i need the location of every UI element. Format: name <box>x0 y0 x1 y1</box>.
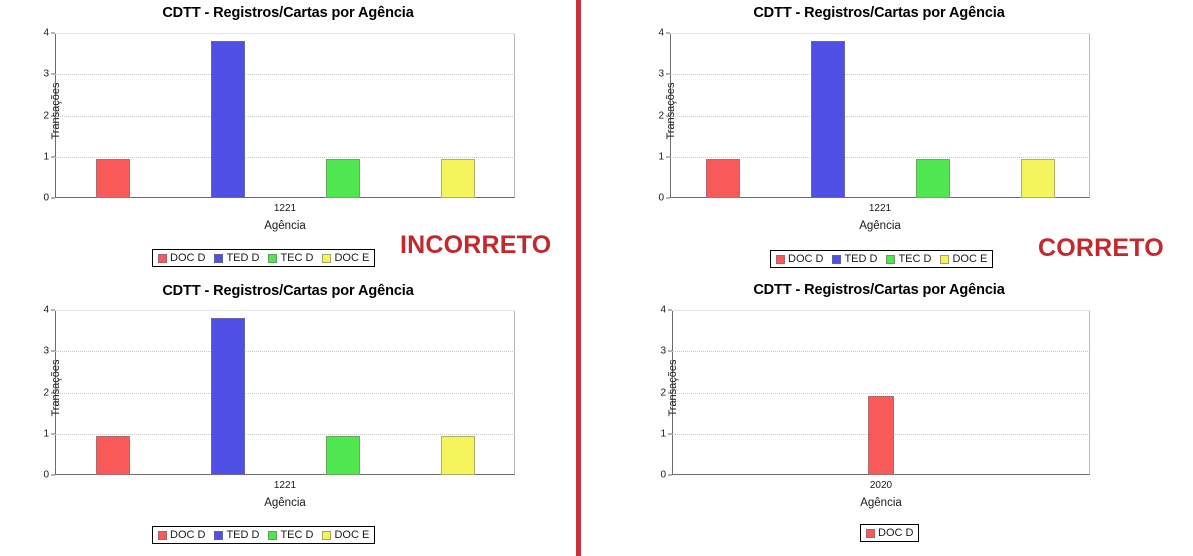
bar-slot <box>670 33 775 198</box>
legend-top-left: DOC D TED D TEC D DOC E <box>152 249 375 267</box>
legend-swatch-icon <box>268 254 277 263</box>
verdict-label-correto: CORRETO <box>1038 234 1164 263</box>
legend-swatch-icon <box>322 254 331 263</box>
ytick-label-4: 4 <box>43 28 49 39</box>
ytick-label-1: 1 <box>43 151 49 162</box>
chart-title-top-right: CDTT - Registros/Cartas por Agência <box>583 5 1175 21</box>
legend-top-right: DOC D TED D TEC D DOC E <box>770 250 993 268</box>
ytick-label-4: 4 <box>43 305 49 316</box>
chart-title-bottom-right: CDTT - Registros/Cartas por Agência <box>583 282 1175 298</box>
legend-bottom-right: DOC D <box>860 524 919 542</box>
legend-item-ted-d[interactable]: TED D <box>832 253 877 265</box>
legend-swatch-icon <box>214 531 223 540</box>
ytick-label-3: 3 <box>658 69 664 80</box>
x-axis-label: Agência <box>55 497 515 509</box>
ytick-label-4: 4 <box>658 28 664 39</box>
legend-label: DOC E <box>334 252 369 264</box>
xtick-label-2020: 2020 <box>870 480 892 491</box>
legend-swatch-icon <box>158 531 167 540</box>
ytick-label-2: 2 <box>43 110 49 121</box>
plot-area-bottom-right: 0 1 2 3 4 Transações 2020 Agência <box>672 310 1090 475</box>
legend-swatch-icon <box>776 255 785 264</box>
legend-item-doc-e[interactable]: DOC E <box>940 253 987 265</box>
screenshot-canvas: CDTT - Registros/Cartas por Agência 0 1 … <box>0 0 1193 556</box>
bar-doc-d[interactable] <box>868 396 894 475</box>
bar-slot <box>285 310 400 475</box>
legend-label: TED D <box>226 252 259 264</box>
legend-label: DOC D <box>170 252 205 264</box>
bar-doc-e[interactable] <box>441 436 475 475</box>
bar-ted-d[interactable] <box>211 318 245 475</box>
bar-doc-d[interactable] <box>96 159 130 198</box>
legend-item-tec-d[interactable]: TEC D <box>268 252 313 264</box>
legend-label: TED D <box>844 253 877 265</box>
bar-group-bottom-right <box>672 310 1090 475</box>
bar-ted-d[interactable] <box>811 41 845 198</box>
legend-swatch-icon <box>214 254 223 263</box>
vertical-divider <box>576 0 581 556</box>
bar-tec-d[interactable] <box>326 436 360 475</box>
legend-swatch-icon <box>866 529 875 538</box>
ytick-label-0: 0 <box>660 470 666 481</box>
ytick-label-2: 2 <box>660 387 666 398</box>
xtick-label-1221: 1221 <box>274 480 296 491</box>
legend-item-tec-d[interactable]: TEC D <box>268 529 313 541</box>
legend-label: DOC D <box>170 529 205 541</box>
ytick-label-3: 3 <box>660 346 666 357</box>
legend-label: DOC D <box>788 253 823 265</box>
ytick-label-1: 1 <box>43 428 49 439</box>
plot-area-top-right: 0 1 2 3 4 Transações 1221 Agência <box>670 33 1090 198</box>
legend-swatch-icon <box>832 255 841 264</box>
bar-slot <box>811 310 950 475</box>
legend-item-doc-d[interactable]: DOC D <box>866 527 913 539</box>
bar-group-top-left <box>55 33 515 198</box>
legend-swatch-icon <box>322 531 331 540</box>
ytick-label-0: 0 <box>43 470 49 481</box>
bar-slot <box>170 310 285 475</box>
bar-doc-d[interactable] <box>706 159 740 198</box>
ytick-label-2: 2 <box>658 110 664 121</box>
ytick-label-3: 3 <box>43 69 49 80</box>
legend-item-doc-d[interactable]: DOC D <box>158 529 205 541</box>
bar-slot <box>951 310 1090 475</box>
legend-label: TED D <box>226 529 259 541</box>
chart-title-top-left: CDTT - Registros/Cartas por Agência <box>0 5 576 21</box>
bar-group-top-right <box>670 33 1090 198</box>
legend-bottom-left: DOC D TED D TEC D DOC E <box>152 526 375 544</box>
bar-slot <box>285 33 400 198</box>
legend-item-doc-e[interactable]: DOC E <box>322 252 369 264</box>
plot-area-bottom-left: 0 1 2 3 4 Transações 1221 Agência <box>55 310 515 475</box>
ytick-label-0: 0 <box>658 193 664 204</box>
verdict-label-incorreto: INCORRETO <box>400 231 551 260</box>
bar-slot <box>672 310 811 475</box>
legend-item-doc-d[interactable]: DOC D <box>776 253 823 265</box>
bar-ted-d[interactable] <box>211 41 245 198</box>
bar-slot <box>55 33 170 198</box>
bar-slot <box>880 33 985 198</box>
bar-tec-d[interactable] <box>326 159 360 198</box>
xtick-label-1221: 1221 <box>869 203 891 214</box>
legend-swatch-icon <box>940 255 949 264</box>
legend-swatch-icon <box>886 255 895 264</box>
ytick-label-4: 4 <box>660 305 666 316</box>
legend-label: TEC D <box>898 253 931 265</box>
ytick-label-3: 3 <box>43 346 49 357</box>
chart-title-bottom-left: CDTT - Registros/Cartas por Agência <box>0 283 576 299</box>
ytick-label-1: 1 <box>660 428 666 439</box>
bar-group-bottom-left <box>55 310 515 475</box>
legend-label: DOC E <box>334 529 369 541</box>
bar-slot <box>400 33 515 198</box>
x-axis-label: Agência <box>670 220 1090 232</box>
bar-slot <box>985 33 1090 198</box>
legend-label: DOC D <box>878 527 913 539</box>
legend-swatch-icon <box>158 254 167 263</box>
xtick-label-1221: 1221 <box>274 203 296 214</box>
legend-label: TEC D <box>280 252 313 264</box>
bar-slot <box>775 33 880 198</box>
legend-item-doc-d[interactable]: DOC D <box>158 252 205 264</box>
legend-swatch-icon <box>268 531 277 540</box>
x-axis-label: Agência <box>672 497 1090 509</box>
bar-slot <box>400 310 515 475</box>
legend-item-ted-d[interactable]: TED D <box>214 252 259 264</box>
bar-doc-e[interactable] <box>1021 159 1055 198</box>
bar-doc-e[interactable] <box>441 159 475 198</box>
bar-slot <box>170 33 285 198</box>
plot-area-top-left: 0 1 2 3 4 Transações 1221 <box>55 33 515 198</box>
ytick-label-0: 0 <box>43 193 49 204</box>
bar-doc-d[interactable] <box>96 436 130 475</box>
legend-item-ted-d[interactable]: TED D <box>214 529 259 541</box>
legend-item-tec-d[interactable]: TEC D <box>886 253 931 265</box>
legend-label: DOC E <box>952 253 987 265</box>
bar-slot <box>55 310 170 475</box>
ytick-label-1: 1 <box>658 151 664 162</box>
legend-label: TEC D <box>280 529 313 541</box>
bar-tec-d[interactable] <box>916 159 950 198</box>
ytick-label-2: 2 <box>43 387 49 398</box>
legend-item-doc-e[interactable]: DOC E <box>322 529 369 541</box>
